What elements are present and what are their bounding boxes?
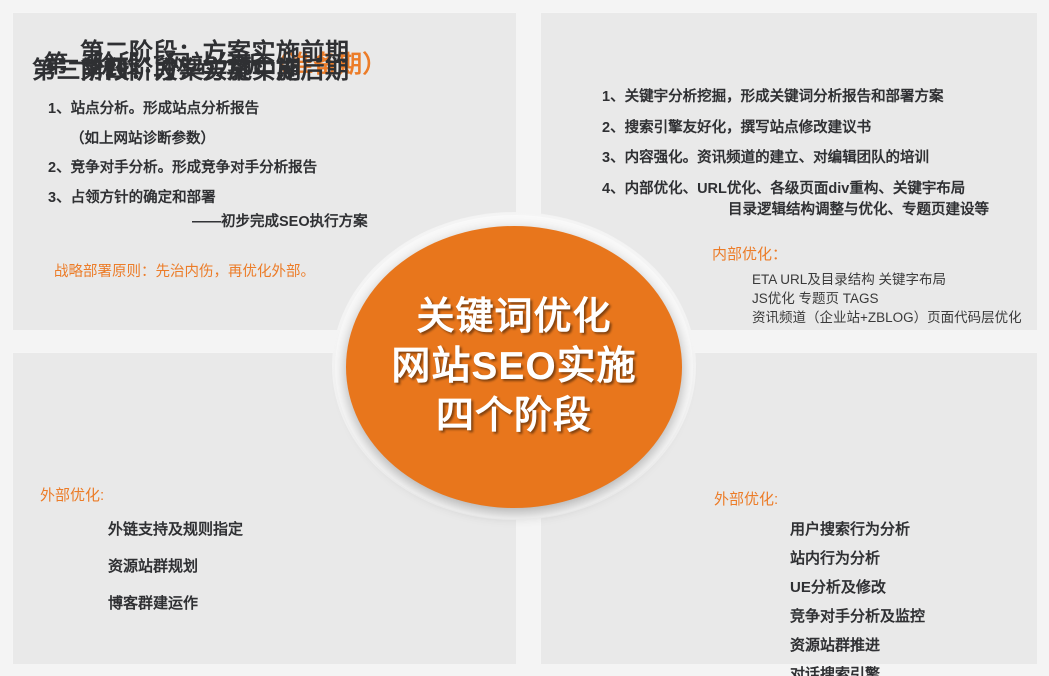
phase-1-principle-note: 战略部署原则：先治内伤，再优化外部。 — [54, 260, 315, 281]
phase-1-item-list: 1、站点分析。形成站点分析报告 （如上网站诊断参数） 2、竞争对手分析。形成竞争… — [48, 102, 317, 220]
list-item: 资源站群规划 — [108, 548, 243, 585]
center-line-1: 关键词优化 — [416, 295, 611, 340]
list-item: 3、内容强化。资讯频道的建立、对编辑团队的培训 — [602, 151, 965, 166]
list-item: 博客群建运作 — [108, 585, 243, 622]
list-item: UE分析及修改 — [790, 573, 925, 602]
phase-3-opt-list: 外链支持及规则指定 资源站群规划 博客群建运作 — [40, 511, 243, 622]
list-item: 1、关键宇分析挖掘，形成关键词分析报告和部署方案 — [602, 90, 965, 105]
center-circle-badge: 关键词优化 网站SEO实施 四个阶段 — [346, 226, 682, 508]
phase-2-tagline: 目录逻辑结构调整与优化、专题页建设等 — [728, 198, 989, 219]
list-item: 1、站点分析。形成站点分析报告 — [48, 102, 317, 117]
phase-3-opt-title: 外部优化: — [40, 484, 243, 505]
phase-1-tagline: ——初步完成SEO执行方案 — [192, 210, 368, 231]
list-item: 2、竞争对手分析。形成竞争对手分析报告 — [48, 161, 317, 176]
list-item: （如上网站诊断参数） — [48, 132, 317, 147]
list-item: 资讯频道（企业站+ZBLOG）页面代码层优化 — [752, 308, 1022, 327]
list-item: 3、占领方针的确定和部署 — [48, 191, 317, 206]
list-item: ETA URL及目录结构 关键字布局 — [752, 270, 1022, 289]
phase-2-opt-list: ETA URL及目录结构 关键字布局 JS优化 专题页 TAGS 资讯频道（企业… — [712, 270, 1022, 327]
phase-4-external-optimization-block: 外部优化: 用户搜索行为分析 站内行为分析 UE分析及修改 竞争对手分析及监控 … — [714, 488, 925, 676]
phase-4-heading-main: 第四阶段：方案实施后期 — [80, 57, 350, 84]
list-item: 竞争对手分析及监控 — [790, 602, 925, 631]
center-line-3: 四个阶段 — [436, 394, 592, 439]
infographic-root: 第一阶段：网站分析（准备期） 1、站点分析。形成站点分析报告 （如上网站诊断参数… — [0, 0, 1049, 676]
list-item: 站内行为分析 — [790, 544, 925, 573]
list-item: 外链支持及规则指定 — [108, 511, 243, 548]
phase-2-item-list: 1、关键宇分析挖掘，形成关键词分析报告和部署方案 2、搜索引擎友好化，撰写站点修… — [602, 90, 965, 212]
phase-3-external-optimization-block: 外部优化: 外链支持及规则指定 资源站群规划 博客群建运作 — [40, 484, 243, 622]
list-item: 2、搜索引擎友好化，撰写站点修改建议书 — [602, 121, 965, 136]
center-line-2: 网站SEO实施 — [391, 344, 636, 390]
list-item: 用户搜索行为分析 — [790, 515, 925, 544]
list-item: 资源站群推进 — [790, 631, 925, 660]
list-item: 4、内部优化、URL优化、各级页面div重构、关键宇布局 — [602, 182, 965, 197]
phase-4-heading: 第四阶段：方案实施后期 — [80, 50, 350, 85]
phase-2-opt-title: 内部优化： — [712, 243, 1022, 264]
list-item: JS优化 专题页 TAGS — [752, 289, 1022, 308]
phase-4-opt-list: 用户搜索行为分析 站内行为分析 UE分析及修改 竞争对手分析及监控 资源站群推进… — [714, 515, 925, 676]
phase-2-internal-optimization-block: 内部优化： ETA URL及目录结构 关键字布局 JS优化 专题页 TAGS 资… — [712, 243, 1022, 327]
phase-4-opt-title: 外部优化: — [714, 488, 925, 509]
list-item: 对话搜索引擎 — [790, 660, 925, 676]
